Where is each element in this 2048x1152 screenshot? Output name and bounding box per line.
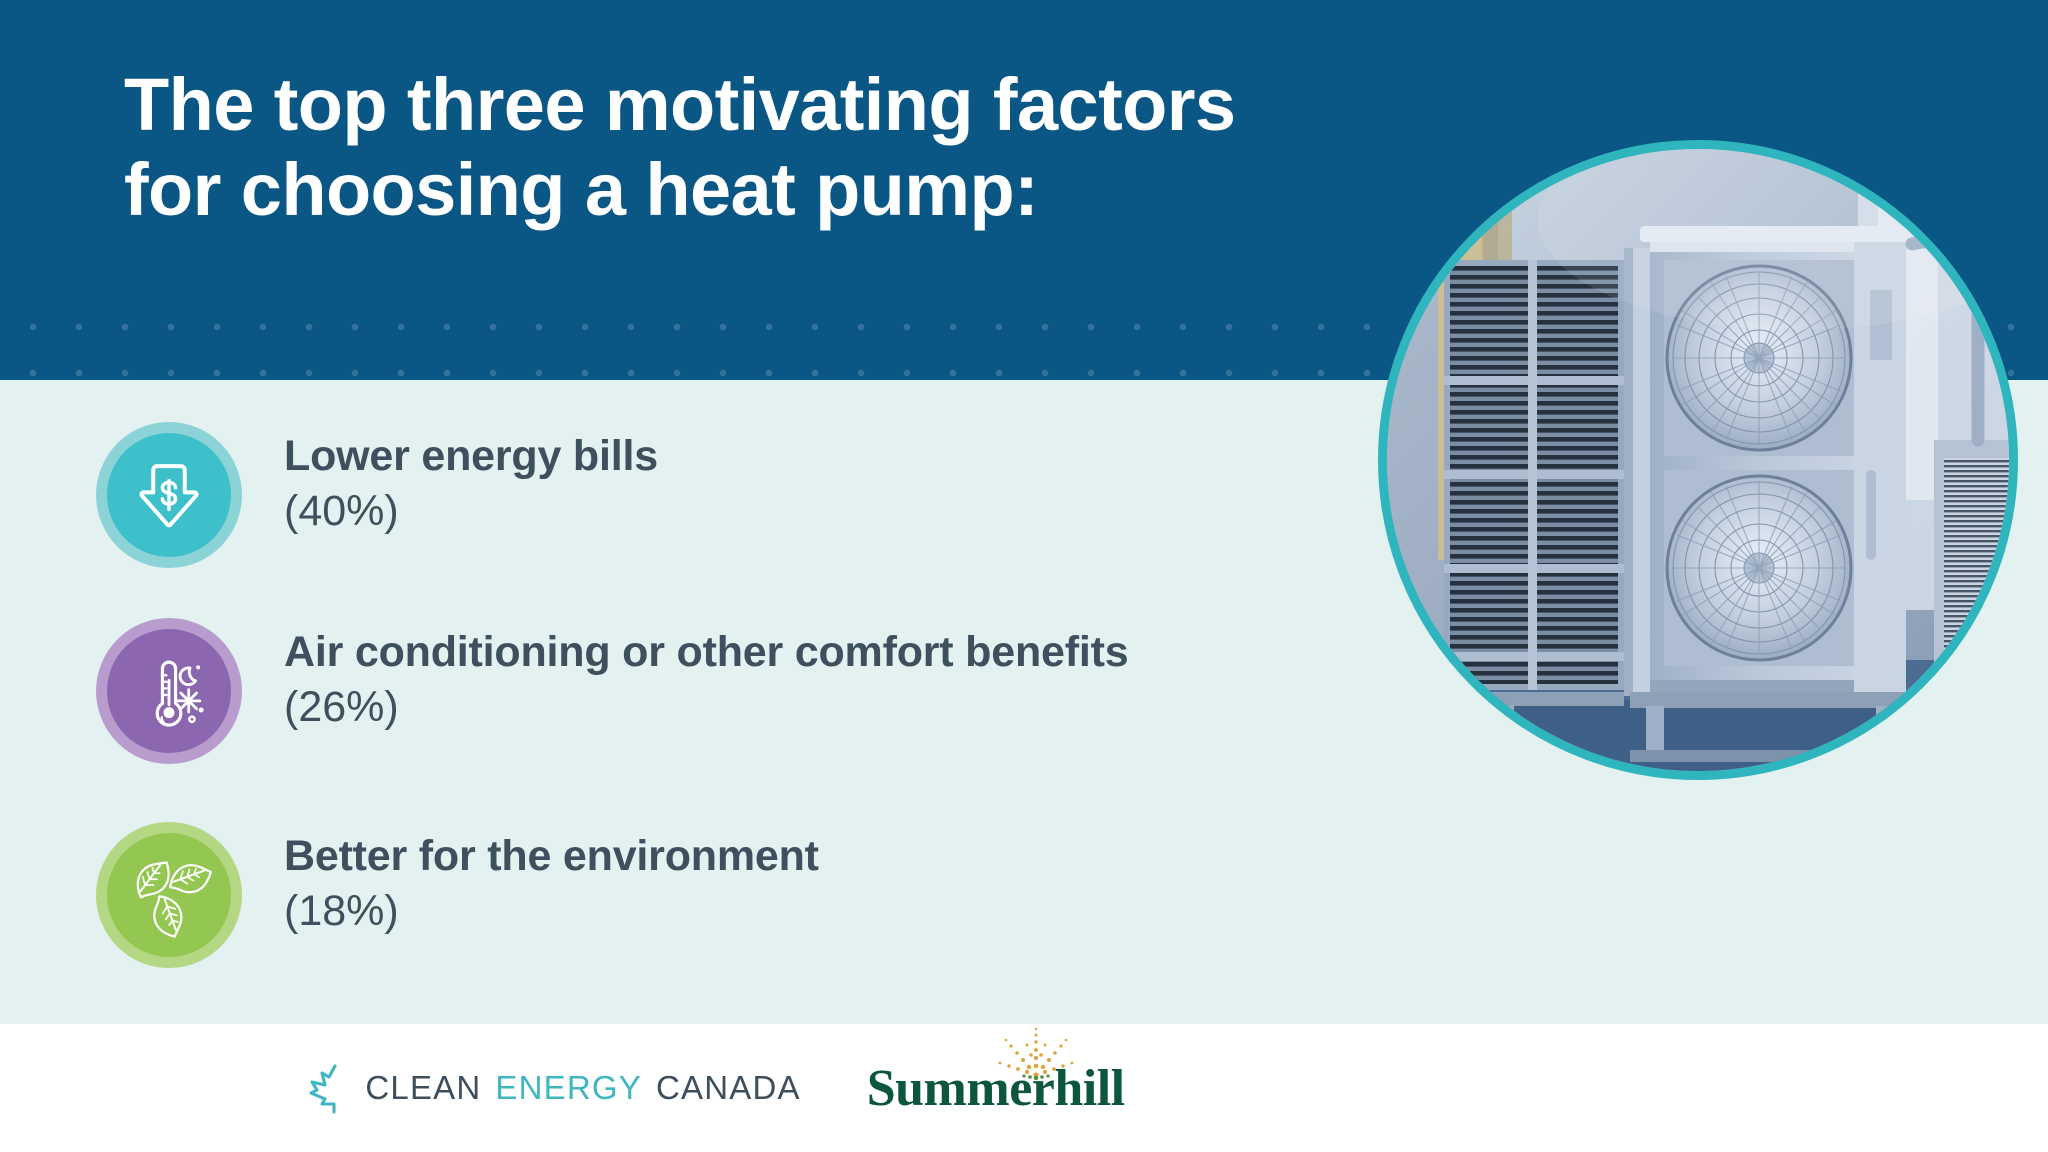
- fact-percent: (40%): [284, 486, 658, 537]
- fact-title: Air conditioning or other comfort benefi…: [284, 628, 1128, 676]
- infographic-canvas: The top three motivating factors for cho…: [0, 0, 2048, 1152]
- maple-leaf-icon: [305, 1062, 351, 1114]
- thermometer-comfort-icon: [96, 618, 242, 764]
- cec-word-canada: CANADA: [656, 1069, 801, 1107]
- list-item: Lower energy bills (40%): [96, 422, 658, 568]
- fact-text: Air conditioning or other comfort benefi…: [284, 618, 1128, 733]
- fact-text: Better for the environment (18%): [284, 822, 819, 937]
- heat-pump-outdoor-unit-photo: [1378, 140, 2018, 780]
- heat-pump-photo-circle: [1378, 140, 2018, 780]
- list-item: Better for the environment (18%): [96, 822, 819, 968]
- starburst-icon: [987, 1019, 1083, 1081]
- summerhill-logo[interactable]: Summerhill: [867, 1059, 1125, 1118]
- page-title: The top three motivating factors for cho…: [124, 62, 1544, 232]
- fact-percent: (26%): [284, 682, 1128, 733]
- fact-title: Lower energy bills: [284, 432, 658, 480]
- fact-percent: (18%): [284, 886, 819, 937]
- photo-ring: [1378, 140, 2018, 780]
- cec-word-energy: ENERGY: [495, 1069, 642, 1107]
- footer-logos: CLEAN ENERGY CANADA: [0, 1024, 1430, 1152]
- clean-energy-canada-logo[interactable]: CLEAN ENERGY CANADA: [305, 1062, 800, 1114]
- three-leaves-icon: [96, 822, 242, 968]
- list-item: Air conditioning or other comfort benefi…: [96, 618, 1128, 764]
- cec-word-clean: CLEAN: [365, 1069, 481, 1107]
- facts-list: Lower energy bills (40%): [0, 380, 1400, 1024]
- dollar-down-arrow-icon: [96, 422, 242, 568]
- fact-text: Lower energy bills (40%): [284, 422, 658, 537]
- fact-title: Better for the environment: [284, 832, 819, 880]
